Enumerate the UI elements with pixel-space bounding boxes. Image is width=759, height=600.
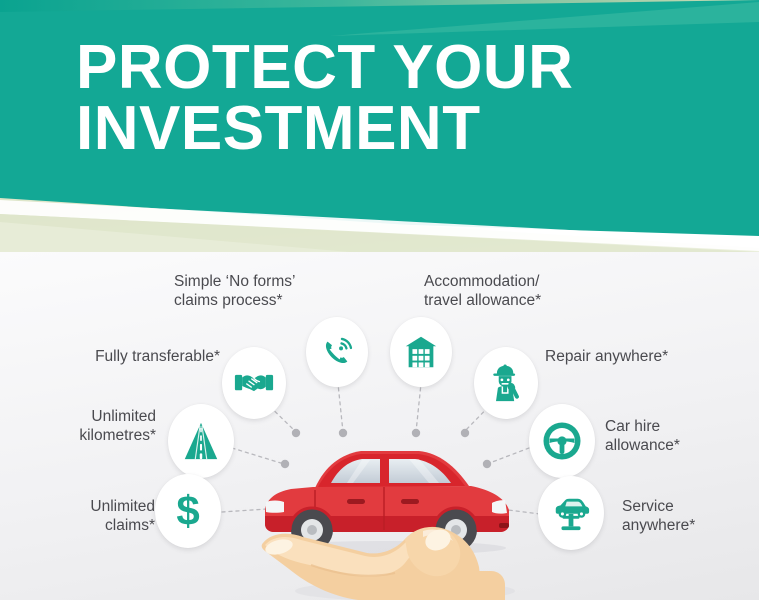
icon-bubble-fully-transferable[interactable] [222,347,286,419]
car-lift-icon [549,493,593,533]
header-banner: PROTECT YOUR INVESTMENT [0,0,759,268]
icon-bubble-simple-claims[interactable] [306,317,368,387]
label-fully-transferable: Fully transferable* [30,347,220,366]
road-icon [180,420,222,462]
steering-wheel-icon [540,419,584,463]
icon-bubble-unlimited-claims[interactable]: $ [155,474,221,548]
benefits-panel: Simple ‘No forms’ claims process* Accomm… [0,252,759,600]
icon-bubble-service-anywhere[interactable] [538,476,604,550]
mechanic-icon [486,363,526,403]
icon-bubble-accommodation[interactable] [390,317,452,387]
building-icon [402,333,440,371]
label-car-hire-allowance: Car hire allowance* [605,417,755,455]
title-line-2: INVESTMENT [76,99,716,160]
page-title: PROTECT YOUR INVESTMENT [76,38,716,160]
open-palm-hand [255,495,515,600]
dollar-sign-icon: $ [171,489,205,533]
label-simple-claims: Simple ‘No forms’ claims process* [174,272,354,310]
icon-bubble-car-hire-allowance[interactable] [529,404,595,478]
icon-bubble-unlimited-kilometres[interactable] [168,404,234,478]
label-repair-anywhere: Repair anywhere* [545,347,745,366]
label-unlimited-claims: Unlimited claims* [10,497,155,535]
icon-bubble-repair-anywhere[interactable] [474,347,538,419]
svg-text:$: $ [176,489,199,533]
phone-signal-icon [319,334,355,370]
label-unlimited-kilometres: Unlimited kilometres* [20,407,156,445]
label-accommodation: Accommodation/ travel allowance* [424,272,614,310]
infographic-canvas: PROTECT YOUR INVESTMENT [0,0,759,600]
title-line-1: PROTECT YOUR [76,38,716,99]
label-service-anywhere: Service anywhere* [622,497,759,535]
handshake-icon [234,366,274,400]
